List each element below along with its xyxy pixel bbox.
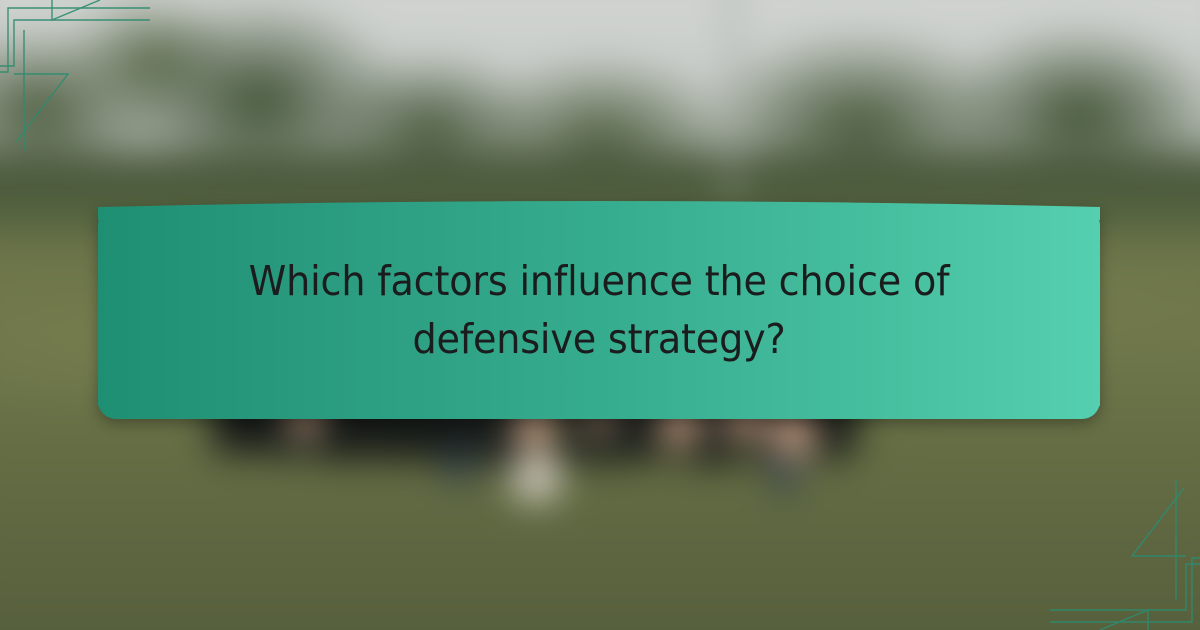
social-card-canvas: Which factors influence the choice of de… xyxy=(0,0,1200,630)
player-sock xyxy=(772,456,796,490)
question-text: Which factors influence the choice of de… xyxy=(245,252,954,368)
question-text-block: Which factors influence the choice of de… xyxy=(98,196,1100,424)
player-sock xyxy=(448,446,470,482)
goal-post xyxy=(728,0,737,210)
player-ball xyxy=(512,456,560,500)
question-card: Which factors influence the choice of de… xyxy=(98,196,1100,424)
player-shorts xyxy=(466,418,514,460)
player-shorts xyxy=(596,422,640,462)
